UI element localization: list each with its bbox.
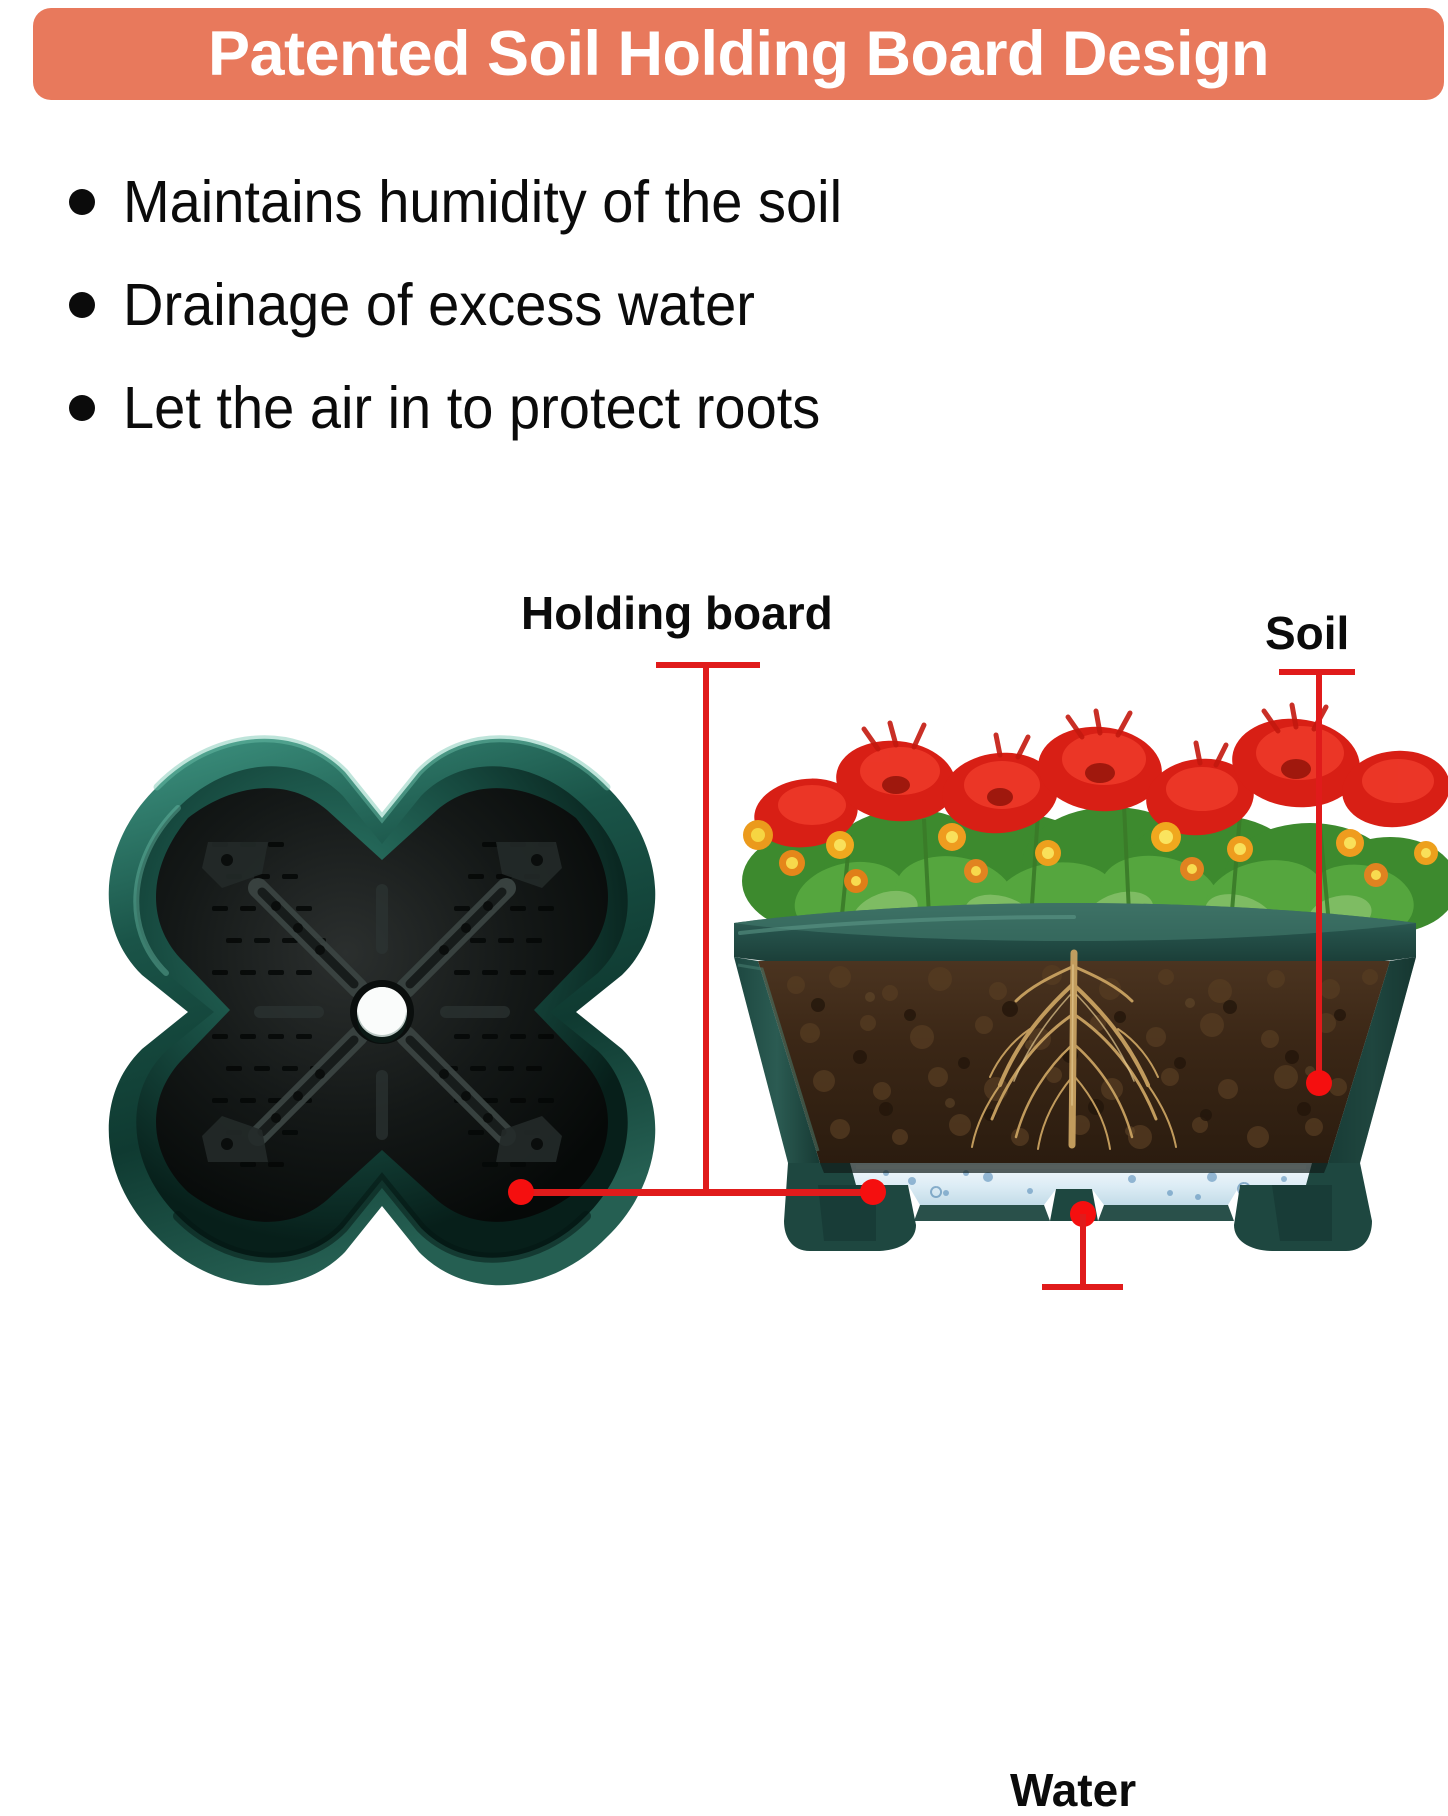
feature-text: Maintains humidity of the soil [123,172,842,231]
leader-dot-holding-board-section [860,1179,886,1205]
leader-line-water-stem [1080,1214,1086,1289]
leader-line-holding-board-spine [523,1189,875,1196]
leader-line-holding-board-stem [703,662,709,1193]
callout-label-holding-board: Holding board [521,590,833,636]
feature-list: Maintains humidity of the soil Drainage … [55,150,1155,459]
callout-label-soil: Soil [1265,610,1349,656]
soil-body [758,953,1390,1163]
leader-dot-soil [1306,1070,1332,1096]
product-diagram: Holding board Soil Water [0,470,1448,1361]
feature-text: Let the air in to protect roots [123,378,820,437]
header-banner: Patented Soil Holding Board Design [33,8,1444,100]
planter-cross-section-illustration [700,685,1448,1325]
leader-dot-holding-board-tray [508,1179,534,1205]
feature-text: Drainage of excess water [123,275,755,334]
drainage-hole [358,987,406,1035]
callout-label-water: Water [1010,1767,1136,1813]
leader-line-water-bar [1042,1284,1123,1290]
bullet-icon [69,292,95,318]
leader-line-soil-stem [1316,669,1322,1085]
list-item: Drainage of excess water [55,253,1155,356]
clover-tray-illustration [62,692,702,1312]
page-title: Patented Soil Holding Board Design [208,23,1269,86]
bullet-icon [69,395,95,421]
list-item: Let the air in to protect roots [55,356,1155,459]
bullet-icon [69,189,95,215]
list-item: Maintains humidity of the soil [55,150,1155,253]
